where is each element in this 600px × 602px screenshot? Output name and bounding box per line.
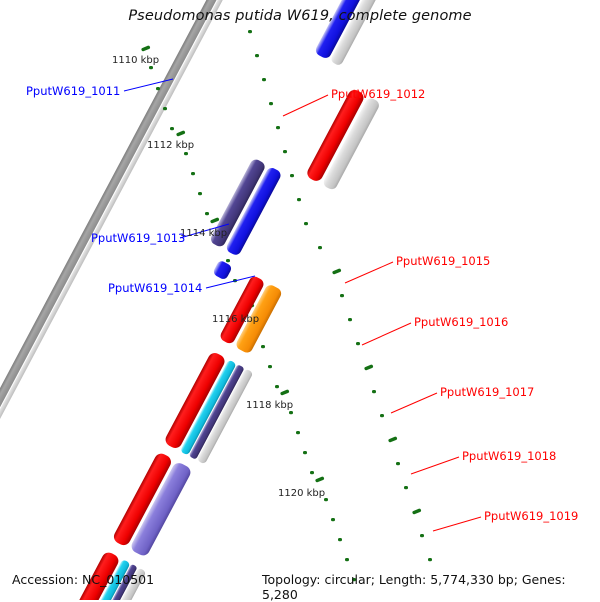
axis-tick-label-1110: 1110 kbp xyxy=(112,55,159,66)
gene-bar-icon-1017[interactable] xyxy=(111,451,192,558)
accession-text: Accession: NC_010501 xyxy=(12,572,154,587)
genome-stats-text: Topology: circular; Length: 5,774,330 bp… xyxy=(262,572,600,602)
axis-tick-label-1120: 1120 kbp xyxy=(278,488,325,499)
gene-label-1011[interactable]: PputW619_1011 xyxy=(26,84,120,98)
axis-tick-label-1116: 1116 kbp xyxy=(212,314,259,325)
genome-map-canvas[interactable]: 1110 kbp 1112 kbp 1114 kbp 1116 kbp 1118… xyxy=(0,0,600,600)
gene-bar-icon-1013[interactable] xyxy=(209,157,283,256)
gene-label-1016[interactable]: PputW619_1016 xyxy=(414,315,508,329)
gene-label-1018[interactable]: PputW619_1018 xyxy=(462,449,556,463)
gene-label-1019[interactable]: PputW619_1019 xyxy=(484,509,578,523)
gene-bar-icon-1011[interactable] xyxy=(314,0,427,67)
gene-label-1012[interactable]: PputW619_1012 xyxy=(331,87,425,101)
axis-tick-label-1118: 1118 kbp xyxy=(246,400,293,411)
axis-tick-label-1112: 1112 kbp xyxy=(147,140,194,151)
gene-label-1015[interactable]: PputW619_1015 xyxy=(396,254,490,268)
gene-bar-icon-1012[interactable] xyxy=(305,87,381,191)
gene-bar-icon-1016[interactable] xyxy=(163,351,253,465)
gene-label-1017[interactable]: PputW619_1017 xyxy=(440,385,534,399)
axis-tick-label-1114: 1114 kbp xyxy=(180,228,227,239)
gene-label-1013[interactable]: PputW619_1013 xyxy=(91,231,185,245)
genome-map-viewer: Pseudomonas putida W619, complete genome xyxy=(0,0,600,600)
gene-bar-icon-1014[interactable] xyxy=(212,260,233,281)
gene-label-1014[interactable]: PputW619_1014 xyxy=(108,281,202,295)
